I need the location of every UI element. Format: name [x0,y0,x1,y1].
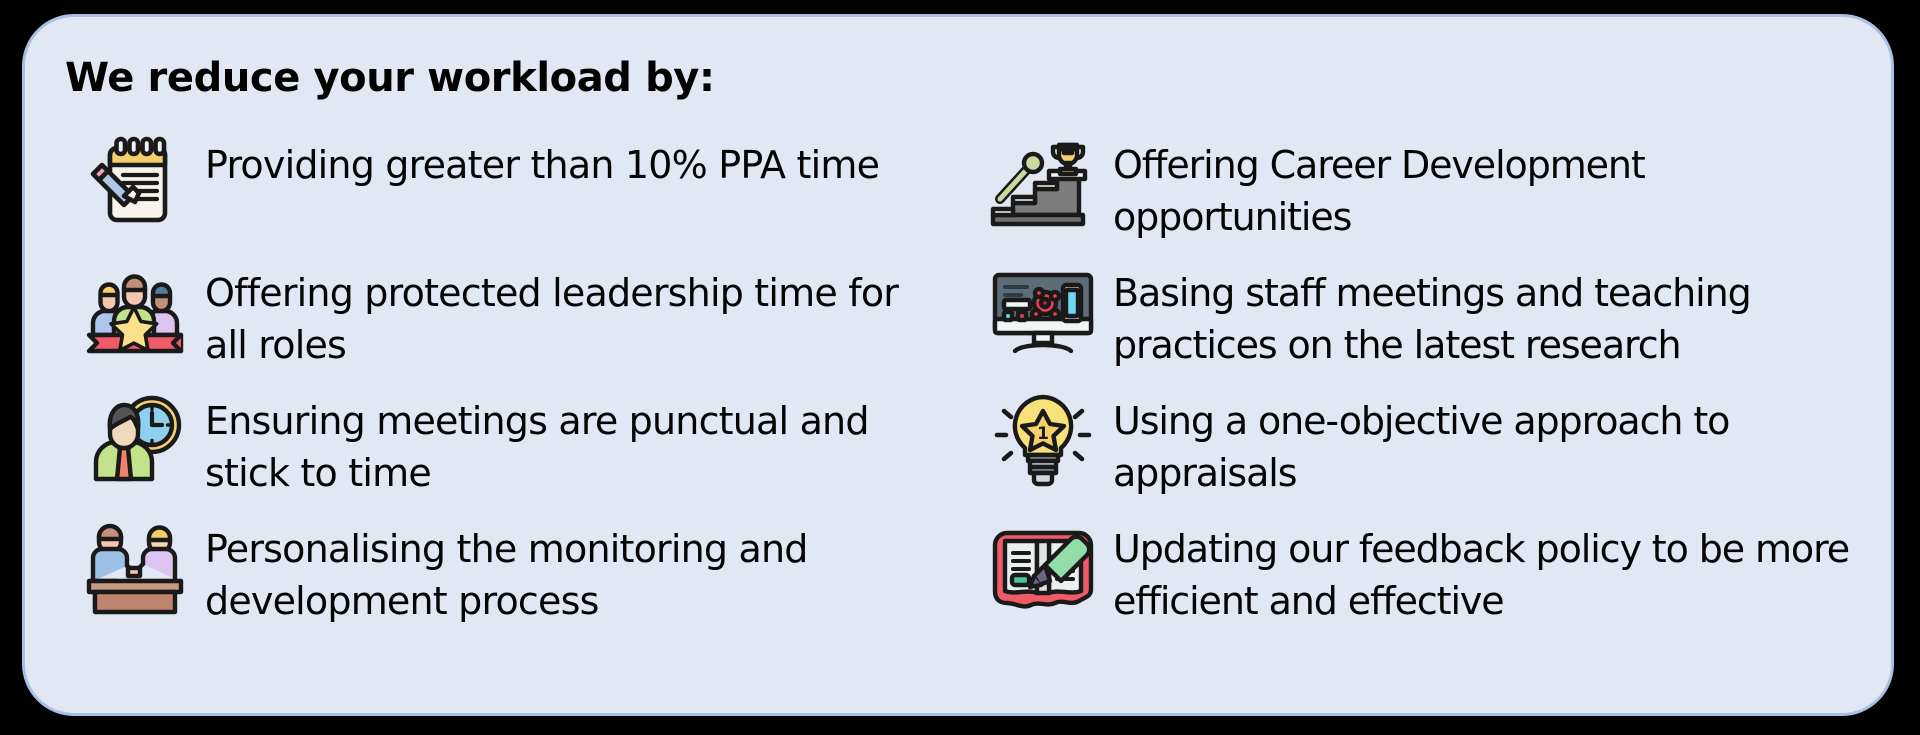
list-item-label: Personalising the monitoring and develop… [205,511,947,628]
right-column: Offering Career Development opportunitie… [973,127,1855,639]
list-item: 1 Using a one-objective approach to appr… [973,383,1855,511]
lightbulb-star-one-icon: 1 [973,383,1113,495]
list-item-label: Basing staff meetings and teaching pract… [1113,255,1855,372]
list-item: Personalising the monitoring and develop… [65,511,947,639]
list-item-label: Providing greater than 10% PPA time [205,127,947,191]
list-item: Ensuring meetings are punctual and stick… [65,383,947,511]
svg-text:1: 1 [1037,424,1049,444]
open-book-highlighter-icon [973,511,1113,623]
content-card: We reduce your workload by: [22,14,1894,716]
list-item: Updating our feedback policy to be more … [973,511,1855,639]
list-item-label: Updating our feedback policy to be more … [1113,511,1855,628]
handshake-desk-icon [65,511,205,623]
page-title: We reduce your workload by: [65,55,715,101]
list-item-label: Using a one-objective approach to apprai… [1113,383,1855,500]
list-item-label: Offering protected leadership time for a… [205,255,947,372]
trophy-podium-stairs-icon [973,127,1113,239]
list-item: Providing greater than 10% PPA time [65,127,947,255]
person-clock-icon [65,383,205,495]
notepad-pencil-icon [65,127,205,239]
team-star-award-icon [65,255,205,367]
list-item: Offering Career Development opportunitie… [973,127,1855,255]
list-item: Basing staff meetings and teaching pract… [973,255,1855,383]
list-item-label: Ensuring meetings are punctual and stick… [205,383,947,500]
desktop-monitor-research-icon [973,255,1113,367]
left-column: Providing greater than 10% PPA time [65,127,947,639]
benefits-columns: Providing greater than 10% PPA time [65,127,1855,639]
list-item-label: Offering Career Development opportunitie… [1113,127,1855,244]
list-item: Offering protected leadership time for a… [65,255,947,383]
